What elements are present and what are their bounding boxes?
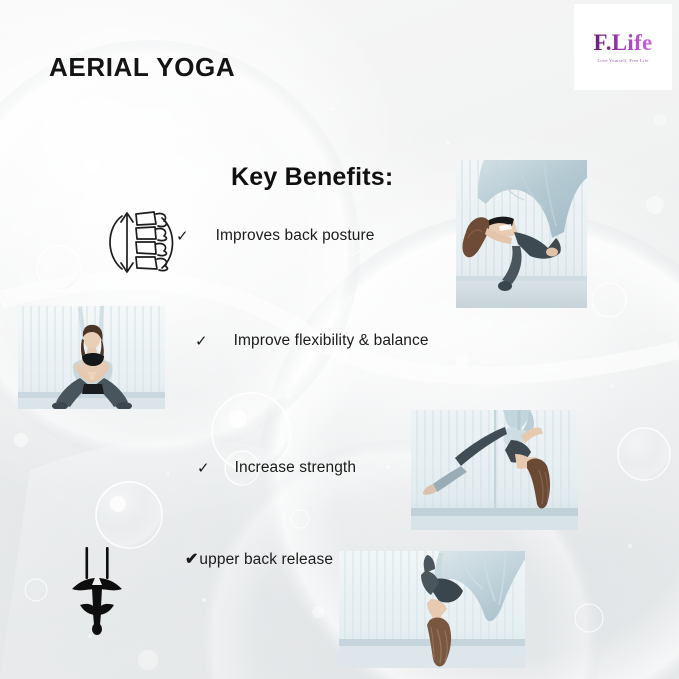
benefit-label: Improve flexibility & balance [234, 332, 429, 350]
photo-hanging-upside-down [339, 551, 525, 668]
benefit-row: ✔ upper back release [185, 551, 333, 569]
poster-canvas: AERIAL YOGA F.Life Love Yourself, Free L… [0, 0, 679, 679]
benefit-row: ✓ Increase strength [197, 459, 356, 477]
benefit-row: ✓ Improves back posture [176, 227, 374, 245]
photo-inverted-split [411, 410, 578, 530]
benefit-label: Increase strength [235, 459, 356, 477]
page-title: AERIAL YOGA [49, 52, 235, 83]
brand-logo: F.Life Love Yourself, Free Life [574, 4, 672, 90]
photo-hammock-backbend [456, 160, 587, 308]
benefit-row: ✓ Improve flexibility & balance [195, 332, 429, 350]
check-icon: ✔ [185, 552, 198, 568]
check-icon: ✓ [197, 461, 210, 476]
key-benefits-heading: Key Benefits: [231, 163, 393, 192]
benefit-label: upper back release [199, 551, 333, 569]
spine-decompression-icon [100, 206, 182, 278]
logo-wordmark: F.Life [593, 31, 652, 54]
photo-seated-prayer [18, 306, 165, 409]
check-icon: ✓ [195, 334, 208, 349]
aerial-hang-silhouette-icon [68, 545, 126, 637]
logo-tagline: Love Yourself, Free Life [597, 58, 648, 63]
benefit-label: Improves back posture [216, 227, 375, 245]
